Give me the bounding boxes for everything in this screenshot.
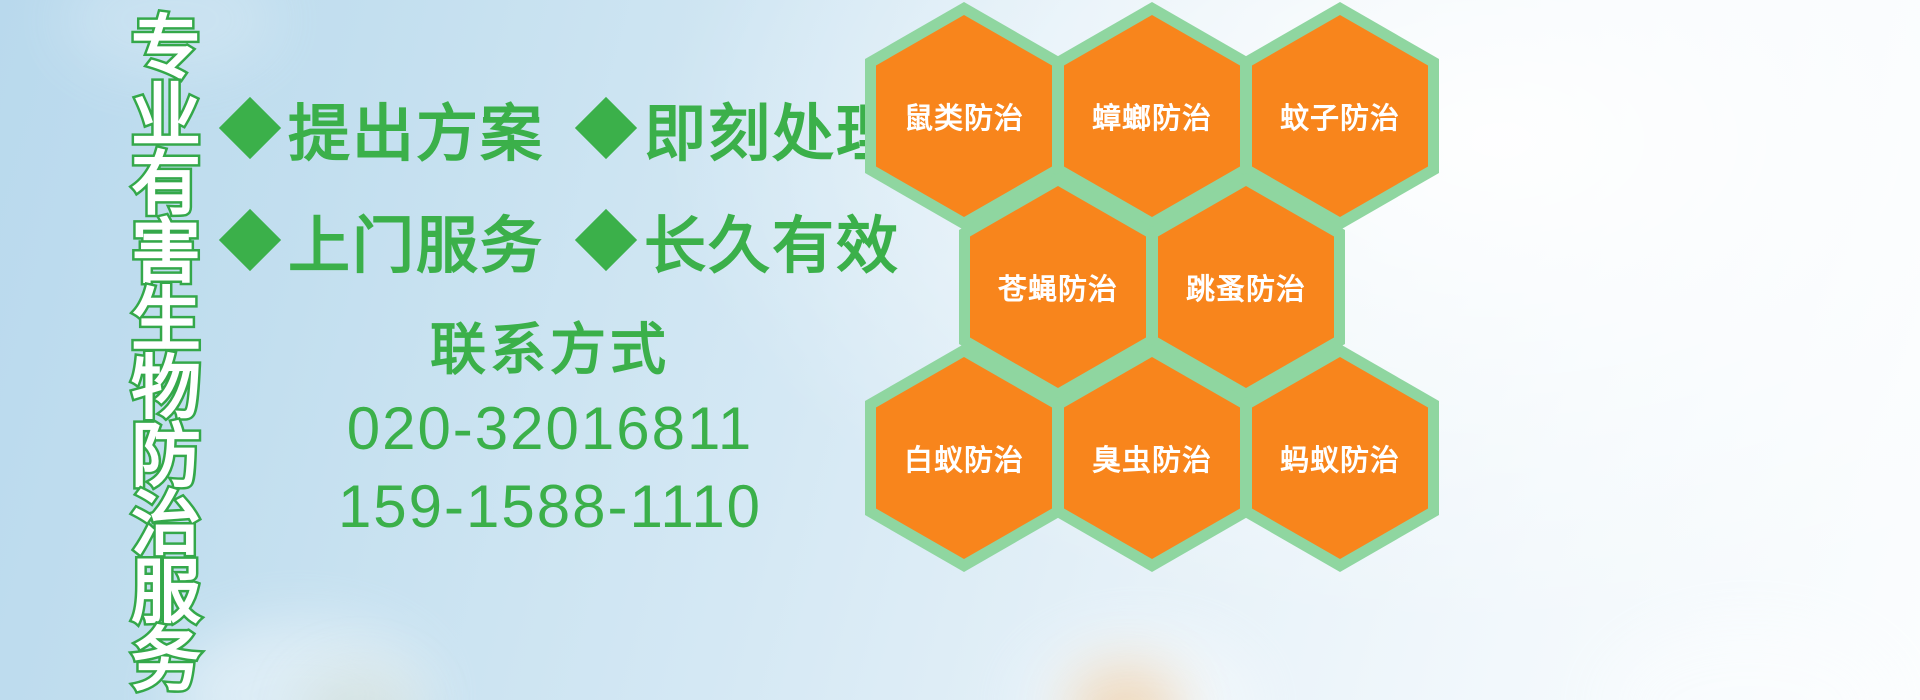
- service-label: 白蚁防治: [904, 437, 1024, 479]
- service-label: 蚂蚁防治: [1280, 437, 1400, 479]
- service-label: 蚊子防治: [1280, 95, 1400, 137]
- vertical-headline-char: 害: [131, 218, 201, 286]
- vertical-headline-char: 服: [131, 558, 201, 626]
- feature-row-1: 提出方案 即刻处理: [228, 83, 900, 173]
- contact-label: 联系方式: [300, 310, 800, 390]
- diamond-icon: [575, 97, 637, 159]
- diamond-icon: [575, 209, 637, 271]
- feature-item: 即刻处理: [584, 83, 900, 173]
- vertical-headline-char: 生: [131, 286, 201, 354]
- feature-row-2: 上门服务 长久有效: [228, 195, 900, 285]
- service-hex-termite[interactable]: 白蚁防治: [865, 344, 1063, 572]
- background-bokeh-blob: [1070, 665, 1180, 700]
- vertical-headline-char: 专: [131, 14, 201, 82]
- service-label: 蟑螂防治: [1092, 95, 1212, 137]
- vertical-headline-char: 业: [131, 82, 201, 150]
- contact-block: 联系方式 020-32016811 159-1588-1110: [300, 310, 800, 546]
- feature-label: 提出方案: [288, 83, 544, 173]
- feature-item: 上门服务: [228, 195, 544, 285]
- pest-control-banner: 专 业 有 害 生 物 防 治 服 务 提出方案 即刻处理 上门服务 长久有效: [0, 0, 1920, 700]
- service-hex-bedbug[interactable]: 臭虫防治: [1053, 344, 1251, 572]
- background-bokeh-blob: [1020, 630, 1260, 700]
- service-honeycomb: 鼠类防治 蟑螂防治 蚊子防治 苍蝇防治 跳蚤防治: [855, 0, 1475, 568]
- vertical-headline: 专 业 有 害 生 物 防 治 服 务: [118, 14, 214, 574]
- vertical-headline-char: 务: [131, 626, 201, 694]
- service-label: 跳蚤防治: [1186, 266, 1306, 308]
- background-bokeh-blob: [170, 620, 430, 700]
- vertical-headline-char: 防: [131, 422, 201, 490]
- background-bokeh-blob: [1600, 620, 1900, 700]
- diamond-icon: [219, 97, 281, 159]
- background-bokeh-blob: [300, 670, 420, 700]
- service-hex-ant[interactable]: 蚂蚁防治: [1241, 344, 1439, 572]
- feature-item: 提出方案: [228, 83, 544, 173]
- service-label: 鼠类防治: [904, 95, 1024, 137]
- phone-number-landline[interactable]: 020-32016811: [300, 390, 800, 468]
- vertical-headline-char: 有: [131, 150, 201, 218]
- vertical-headline-char: 治: [131, 490, 201, 558]
- diamond-icon: [219, 209, 281, 271]
- feature-item: 长久有效: [584, 195, 900, 285]
- feature-label: 上门服务: [288, 195, 544, 285]
- phone-number-mobile[interactable]: 159-1588-1110: [300, 468, 800, 546]
- service-label: 苍蝇防治: [998, 266, 1118, 308]
- service-label: 臭虫防治: [1092, 437, 1212, 479]
- vertical-headline-char: 物: [131, 354, 201, 422]
